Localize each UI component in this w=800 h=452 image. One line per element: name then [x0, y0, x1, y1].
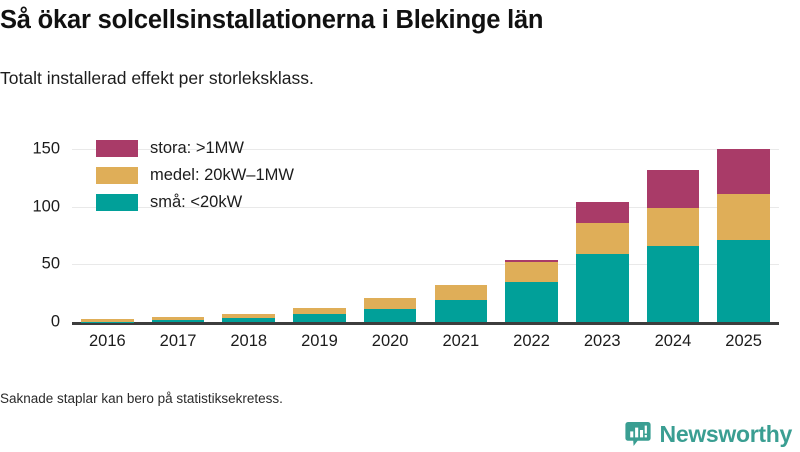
legend-swatch-stora	[96, 140, 138, 157]
y-tick-50: 50	[0, 255, 60, 274]
x-tick-2018: 2018	[213, 332, 284, 351]
bar-segment-sma-2020	[364, 309, 417, 322]
bar-2017[interactable]	[152, 317, 205, 322]
bar-segment-sma-2023	[576, 254, 629, 322]
bar-segment-sma-2021	[435, 300, 488, 322]
x-tick-2023: 2023	[567, 332, 638, 351]
legend-item-stora[interactable]: stora: >1MW	[96, 136, 294, 161]
bar-segment-medel-2021	[435, 285, 488, 299]
legend-swatch-sma	[96, 194, 138, 211]
bar-segment-sma-2017	[152, 320, 205, 322]
chart-footnote: Saknade staplar kan bero på statistiksek…	[0, 391, 283, 406]
legend-label-medel: medel: 20kW–1MW	[150, 166, 294, 185]
bar-segment-sma-2024	[647, 246, 700, 322]
bar-2022[interactable]	[505, 260, 558, 322]
bar-segment-stora-2025	[717, 149, 770, 194]
newsworthy-logo[interactable]: Newsworthy	[625, 419, 792, 449]
bar-segment-medel-2024	[647, 208, 700, 246]
bar-2018[interactable]	[222, 314, 275, 322]
bar-2020[interactable]	[364, 298, 417, 322]
legend-label-stora: stora: >1MW	[150, 139, 244, 158]
x-tick-2016: 2016	[72, 332, 143, 351]
chart-container: Så ökar solcellsinstallationerna i Bleki…	[0, 0, 800, 450]
y-tick-0: 0	[0, 313, 60, 332]
legend-swatch-medel	[96, 167, 138, 184]
chart-legend: stora: >1MW medel: 20kW–1MW små: <20kW	[96, 136, 294, 217]
bar-segment-stora-2023	[576, 202, 629, 223]
bar-2025[interactable]	[717, 149, 770, 322]
bar-segment-medel-2023	[576, 223, 629, 254]
x-tick-2021: 2021	[426, 332, 497, 351]
bar-2019[interactable]	[293, 308, 346, 322]
bar-chart-bubble-icon	[625, 421, 651, 447]
page-title: Så ökar solcellsinstallationerna i Bleki…	[0, 6, 543, 35]
y-tick-150: 150	[0, 140, 60, 159]
bar-2021[interactable]	[435, 285, 488, 322]
bar-segment-medel-2022	[505, 262, 558, 282]
bar-segment-medel-2020	[364, 298, 417, 310]
legend-item-sma[interactable]: små: <20kW	[96, 190, 294, 215]
x-tick-2025: 2025	[708, 332, 779, 351]
y-tick-100: 100	[0, 197, 60, 216]
bar-segment-sma-2022	[505, 282, 558, 322]
bar-2016[interactable]	[81, 319, 134, 322]
newsworthy-wordmark: Newsworthy	[660, 421, 792, 448]
x-axis-line	[72, 322, 779, 325]
legend-label-sma: små: <20kW	[150, 193, 242, 212]
bar-segment-stora-2024	[647, 170, 700, 208]
bar-segment-sma-2018	[222, 318, 275, 322]
bar-segment-medel-2025	[717, 194, 770, 240]
bar-2023[interactable]	[576, 202, 629, 322]
legend-item-medel[interactable]: medel: 20kW–1MW	[96, 163, 294, 188]
x-tick-2024: 2024	[638, 332, 709, 351]
x-tick-2019: 2019	[284, 332, 355, 351]
chart-subtitle: Totalt installerad effekt per storlekskl…	[0, 68, 314, 89]
bar-segment-sma-2025	[717, 240, 770, 322]
x-tick-2020: 2020	[355, 332, 426, 351]
bar-2024[interactable]	[647, 170, 700, 322]
x-tick-2022: 2022	[496, 332, 567, 351]
x-tick-2017: 2017	[143, 332, 214, 351]
bar-segment-sma-2019	[293, 314, 346, 322]
